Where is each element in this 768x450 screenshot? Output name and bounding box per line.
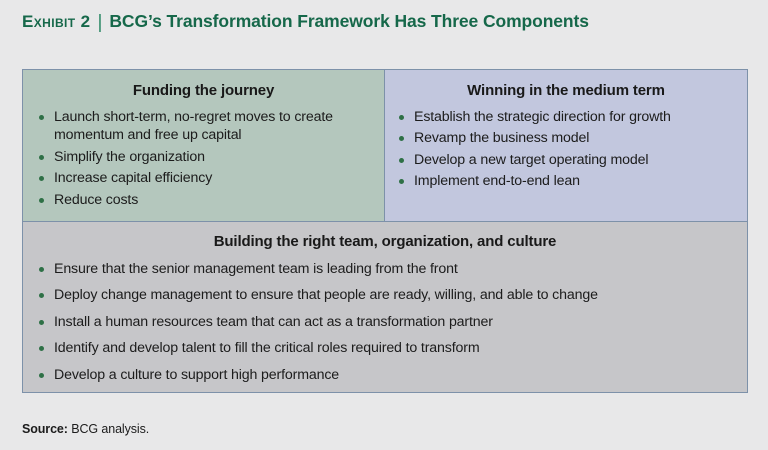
panel-winning-bullet-list: Establish the strategic direction for gr…	[399, 108, 747, 191]
list-item-text: Launch short-term, no-regret moves to cr…	[54, 109, 333, 143]
framework-diagram: Funding the journey Launch short-term, n…	[22, 69, 748, 393]
list-item: Increase capital efficiency	[39, 169, 384, 187]
bullet-dot-icon	[399, 179, 404, 184]
list-item: Develop a new target operating model	[399, 151, 747, 169]
list-item-text: Implement end-to-end lean	[414, 173, 580, 189]
list-item: Ensure that the senior management team i…	[39, 260, 747, 278]
framework-top-row: Funding the journey Launch short-term, n…	[23, 70, 747, 222]
bullet-dot-icon	[39, 346, 44, 351]
bullet-dot-icon	[39, 155, 44, 160]
bullet-dot-icon	[39, 293, 44, 298]
panel-funding-the-journey: Funding the journey Launch short-term, n…	[23, 70, 385, 222]
panel-building-heading: Building the right team, organization, a…	[23, 222, 747, 250]
page-title: Exhibit 2 | BCG’s Transformation Framewo…	[22, 11, 589, 33]
bullet-dot-icon	[39, 198, 44, 203]
panel-funding-heading: Funding the journey	[23, 70, 384, 99]
source-note: Source: BCG analysis.	[22, 422, 149, 436]
list-item: Install a human resources team that can …	[39, 313, 747, 331]
bullet-dot-icon	[399, 158, 404, 163]
list-item-text: Revamp the business model	[414, 130, 589, 146]
panel-winning-heading: Winning in the medium term	[385, 70, 747, 99]
bullet-dot-icon	[39, 267, 44, 272]
exhibit-label: Exhibit 2	[22, 12, 90, 32]
bullet-dot-icon	[39, 115, 44, 120]
list-item: Implement end-to-end lean	[399, 172, 747, 190]
title-headline: BCG’s Transformation Framework Has Three…	[109, 11, 589, 32]
list-item: Develop a culture to support high perfor…	[39, 366, 747, 384]
list-item-text: Install a human resources team that can …	[54, 314, 493, 330]
list-item-text: Ensure that the senior management team i…	[54, 261, 458, 277]
list-item-text: Develop a new target operating model	[414, 152, 648, 168]
list-item: Simplify the organization	[39, 148, 384, 166]
list-item-text: Deploy change management to ensure that …	[54, 287, 598, 303]
list-item-text: Establish the strategic direction for gr…	[414, 109, 671, 125]
list-item: Identify and develop talent to fill the …	[39, 339, 747, 357]
list-item: Revamp the business model	[399, 129, 747, 147]
bullet-dot-icon	[39, 176, 44, 181]
bullet-dot-icon	[39, 320, 44, 325]
bullet-dot-icon	[39, 373, 44, 378]
list-item: Establish the strategic direction for gr…	[399, 108, 747, 126]
panel-funding-bullet-list: Launch short-term, no-regret moves to cr…	[39, 108, 384, 209]
panel-building-the-right-team: Building the right team, organization, a…	[23, 222, 747, 392]
source-text: BCG analysis.	[71, 422, 149, 436]
list-item: Reduce costs	[39, 191, 384, 209]
list-item-text: Develop a culture to support high perfor…	[54, 367, 339, 383]
panel-building-bullet-list: Ensure that the senior management team i…	[39, 260, 747, 384]
title-divider: |	[97, 12, 102, 34]
list-item: Deploy change management to ensure that …	[39, 286, 747, 304]
bullet-dot-icon	[399, 115, 404, 120]
list-item-text: Identify and develop talent to fill the …	[54, 340, 479, 356]
panel-winning-in-the-medium-term: Winning in the medium term Establish the…	[385, 70, 747, 222]
list-item: Launch short-term, no-regret moves to cr…	[39, 108, 384, 145]
list-item-text: Reduce costs	[54, 192, 138, 208]
list-item-text: Increase capital efficiency	[54, 170, 212, 186]
bullet-dot-icon	[399, 136, 404, 141]
list-item-text: Simplify the organization	[54, 149, 205, 165]
source-label: Source:	[22, 422, 68, 436]
